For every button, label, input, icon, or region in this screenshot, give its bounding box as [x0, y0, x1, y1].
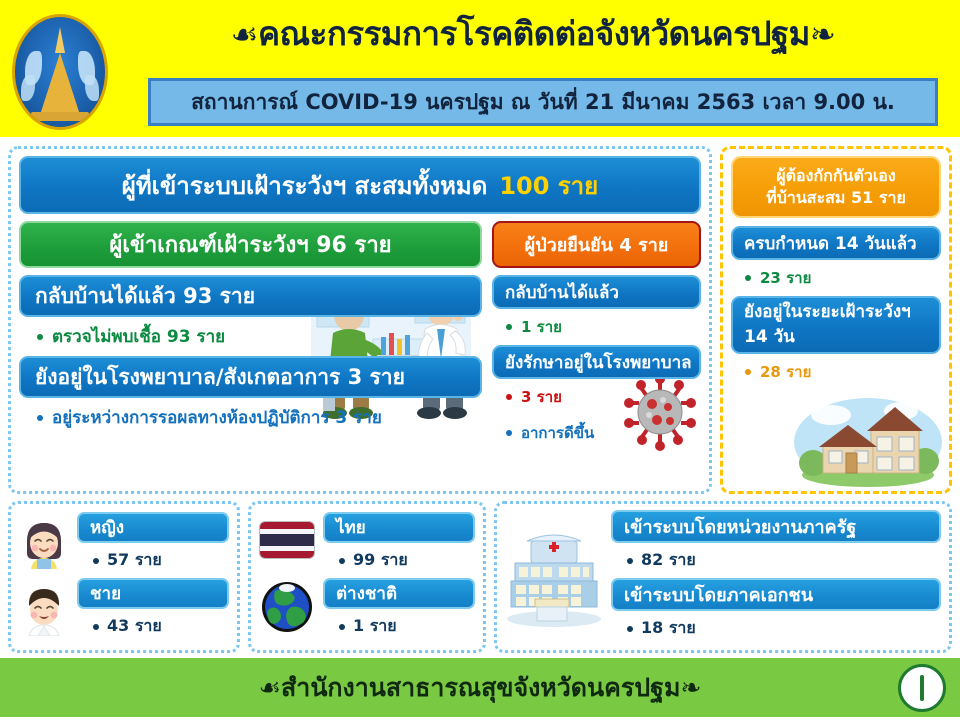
male-label: ชาย — [90, 580, 121, 607]
girl-avatar-icon — [19, 519, 69, 569]
bullet-dot-icon — [339, 624, 345, 630]
confirmed-cases-bar: ผู้ป่วยยืนยัน 4 ราย — [492, 221, 701, 268]
confirmed-treating-note: อาการดีขึ้น — [521, 421, 594, 445]
private-entry-label: เข้าระบบโดยภาคเอกชน — [624, 580, 813, 609]
foreign-label-bar: ต่างชาติ — [323, 578, 475, 609]
footer-ornament-right-icon: ❧ — [680, 673, 701, 702]
foreign-label: ต่างชาติ — [336, 580, 397, 607]
boy-avatar-icon — [19, 586, 69, 636]
surveillance-detail-columns: กลับบ้านได้แล้ว 93 ราย ตรวจไม่พบเชื้อ 93… — [19, 275, 701, 451]
female-count-bullet: 57 ราย — [77, 545, 229, 576]
quarantine-panel: ผู้ต้องกักกันตัวเอง ที่บ้านสะสม 51 ราย ค… — [720, 146, 952, 494]
gender-data: หญิง 57 ราย ชาย 43 ราย — [77, 512, 229, 642]
bullet-dot-icon — [506, 394, 512, 400]
foreign-count: 1 ราย — [353, 614, 397, 639]
quarantine-completed-label: ครบกำหนด 14 วันแล้ว — [744, 230, 917, 257]
bullet-dot-icon — [93, 558, 99, 564]
bottom-row: หญิง 57 ราย ชาย 43 ราย — [8, 501, 952, 653]
footer-ornament-left-icon: ☙ — [259, 673, 281, 702]
quarantine-completed-bar: ครบกำหนด 14 วันแล้ว — [731, 226, 941, 260]
situation-date-text: สถานการณ์ COVID-19 นครปฐม ณ วันที่ 21 มี… — [191, 86, 895, 119]
pui-discharged-bar: กลับบ้านได้แล้ว 93 ราย — [19, 275, 482, 317]
pui-discharged-bullet: ตรวจไม่พบเชื้อ 93 ราย — [19, 317, 482, 356]
page-footer: ☙สำนักงานสาธารณสุขจังหวัดนครปฐม❧ — [0, 655, 960, 717]
pui-inhospital-bar: ยังอยู่ในโรงพยาบาล/สังเกตอาการ 3 ราย — [19, 356, 482, 398]
ornament-right-icon: ❧ — [810, 17, 835, 53]
page-header: ☙คณะกรรมการโรคติดต่อจังหวัดนครปฐม❧ สถานก… — [0, 0, 960, 140]
quarantine-completed-value: 23 ราย — [760, 266, 811, 290]
infographic-page: ☙คณะกรรมการโรคติดต่อจังหวัดนครปฐม❧ สถานก… — [0, 0, 960, 720]
nationality-breakdown-box: ไทย 99 ราย ต่างชาติ 1 ราย — [248, 501, 486, 653]
bullet-dot-icon — [506, 430, 512, 436]
moph-logo-icon — [898, 664, 946, 712]
public-entry-label: เข้าระบบโดยหน่วยงานภาครัฐ — [624, 512, 856, 541]
female-count: 57 ราย — [107, 548, 162, 573]
confirmed-discharged-bullet: 1 ราย — [492, 309, 701, 345]
hospital-icon — [505, 527, 603, 627]
nationality-data: ไทย 99 ราย ต่างชาติ 1 ราย — [323, 512, 475, 642]
confirmed-treating-note-bullet: อาการดีขึ้น — [492, 415, 701, 451]
thai-label-bar: ไทย — [323, 512, 475, 543]
thai-count: 99 ราย — [353, 548, 408, 573]
confirmed-treating-bullet: 3 ราย — [492, 379, 701, 415]
bullet-dot-icon — [339, 558, 345, 564]
nationality-icons — [259, 510, 315, 644]
confirmed-discharged-value: 1 ราย — [521, 315, 562, 339]
bullet-dot-icon — [37, 334, 43, 340]
total-surveillance-value: 100 ราย — [499, 166, 598, 205]
situation-date-bar: สถานการณ์ COVID-19 นครปฐม ณ วันที่ 21 มี… — [148, 78, 938, 126]
gender-breakdown-box: หญิง 57 ราย ชาย 43 ราย — [8, 501, 240, 653]
quarantine-ongoing-value: 28 ราย — [760, 360, 811, 384]
globe-icon — [261, 581, 313, 633]
confirmed-discharged-bar: กลับบ้านได้แล้ว — [492, 275, 701, 309]
footer-office-text: สำนักงานสาธารณสุขจังหวัดนครปฐม — [281, 673, 680, 702]
bullet-dot-icon — [745, 369, 751, 375]
ornament-left-icon: ☙ — [231, 17, 258, 53]
bullet-dot-icon — [506, 324, 512, 330]
quarantine-completed-bullet: 23 ราย — [731, 260, 941, 296]
footer-office-title: ☙สำนักงานสาธารณสุขจังหวัดนครปฐม❧ — [259, 668, 702, 708]
public-entry-label-bar: เข้าระบบโดยหน่วยงานภาครัฐ — [611, 510, 941, 543]
male-count: 43 ราย — [107, 614, 162, 639]
public-entry-count-bullet: 82 ราย — [611, 545, 941, 576]
house-illustration — [793, 387, 943, 487]
male-label-bar: ชาย — [77, 578, 229, 609]
header-org-title: ☙คณะกรรมการโรคติดต่อจังหวัดนครปฐม❧ — [120, 14, 946, 54]
pui-inhospital-label: ยังอยู่ในโรงพยาบาล/สังเกตอาการ 3 ราย — [35, 361, 405, 394]
org-title-text: คณะกรรมการโรคติดต่อจังหวัดนครปฐม — [258, 14, 810, 53]
main-content: ผู้ที่เข้าระบบเฝ้าระวังฯ สะสมทั้งหมด 100… — [0, 140, 960, 655]
gender-icons — [19, 510, 69, 644]
confirmed-treating-value: 3 ราย — [521, 385, 562, 409]
pui-criteria-label: ผู้เข้าเกณฑ์เฝ้าระวังฯ 96 ราย — [109, 227, 391, 262]
private-entry-count-bullet: 18 ราย — [611, 613, 941, 644]
foreign-count-bullet: 1 ราย — [323, 611, 475, 642]
pui-criteria-bar: ผู้เข้าเกณฑ์เฝ้าระวังฯ 96 ราย — [19, 221, 482, 268]
thai-flag-icon — [259, 521, 315, 559]
thai-label: ไทย — [336, 514, 366, 541]
entry-channel-box: เข้าระบบโดยหน่วยงานภาครัฐ 82 ราย เข้าระบ… — [494, 501, 952, 653]
provincial-seal-icon — [12, 14, 108, 130]
thai-count-bullet: 99 ราย — [323, 545, 475, 576]
bullet-dot-icon — [745, 275, 751, 281]
male-count-bullet: 43 ราย — [77, 611, 229, 642]
quarantine-ongoing-label-line2: 14 วัน — [744, 325, 795, 351]
pui-discharged-value: ตรวจไม่พบเชื้อ 93 ราย — [52, 323, 225, 350]
public-entry-count: 82 ราย — [641, 548, 696, 573]
total-surveillance-bar: ผู้ที่เข้าระบบเฝ้าระวังฯ สะสมทั้งหมด 100… — [19, 156, 701, 214]
female-label-bar: หญิง — [77, 512, 229, 543]
top-row: ผู้ที่เข้าระบบเฝ้าระวังฯ สะสมทั้งหมด 100… — [8, 146, 952, 494]
entry-channel-data: เข้าระบบโดยหน่วยงานภาครัฐ 82 ราย เข้าระบ… — [611, 510, 941, 644]
private-entry-count: 18 ราย — [641, 616, 696, 641]
private-entry-label-bar: เข้าระบบโดยภาคเอกชน — [611, 578, 941, 611]
confirmed-treating-bar: ยังรักษาอยู่ในโรงพยาบาล — [492, 345, 701, 379]
pui-discharged-label: กลับบ้านได้แล้ว 93 ราย — [35, 280, 255, 313]
criteria-confirmed-row: ผู้เข้าเกณฑ์เฝ้าระวังฯ 96 ราย ผู้ป่วยยืน… — [19, 221, 701, 268]
quarantine-ongoing-bullet: 28 ราย — [731, 354, 941, 390]
confirmed-treating-label: ยังรักษาอยู่ในโรงพยาบาล — [505, 349, 692, 376]
surveillance-panel: ผู้ที่เข้าระบบเฝ้าระวังฯ สะสมทั้งหมด 100… — [8, 146, 712, 494]
quarantine-title-bar: ผู้ต้องกักกันตัวเอง ที่บ้านสะสม 51 ราย — [731, 156, 941, 218]
pui-inhospital-value: อยู่ระหว่างการรอผลทางห้องปฏิบัติการ 3 รา… — [52, 404, 382, 431]
bullet-dot-icon — [627, 626, 633, 632]
quarantine-ongoing-bar: ยังอยู่ในระยะเฝ้าระวังฯ 14 วัน — [731, 296, 941, 354]
quarantine-ongoing-label-line1: ยังอยู่ในระยะเฝ้าระวังฯ — [744, 300, 911, 326]
bullet-dot-icon — [37, 415, 43, 421]
pui-detail-column: กลับบ้านได้แล้ว 93 ราย ตรวจไม่พบเชื้อ 93… — [19, 275, 482, 451]
confirmed-cases-label: ผู้ป่วยยืนยัน 4 ราย — [525, 230, 669, 259]
female-label: หญิง — [90, 514, 124, 541]
confirmed-detail-column: กลับบ้านได้แล้ว 1 ราย ยังรักษาอยู่ในโรงพ… — [492, 275, 701, 451]
quarantine-title-line2: ที่บ้านสะสม 51 ราย — [766, 187, 906, 209]
bullet-dot-icon — [93, 624, 99, 630]
total-surveillance-label: ผู้ที่เข้าระบบเฝ้าระวังฯ สะสมทั้งหมด — [122, 166, 488, 205]
bullet-dot-icon — [627, 558, 633, 564]
quarantine-title-line1: ผู้ต้องกักกันตัวเอง — [776, 165, 895, 187]
pui-inhospital-bullet: อยู่ระหว่างการรอผลทางห้องปฏิบัติการ 3 รา… — [19, 398, 482, 437]
confirmed-discharged-label: กลับบ้านได้แล้ว — [505, 279, 619, 306]
